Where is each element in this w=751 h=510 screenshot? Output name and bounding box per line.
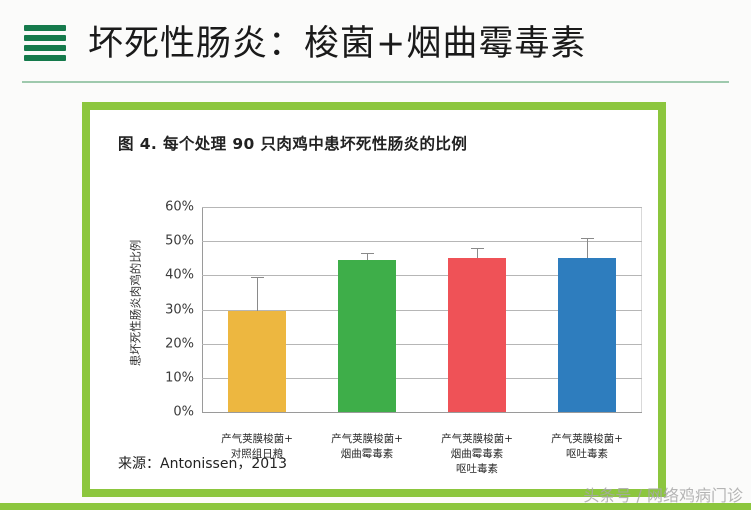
x-axis-label-line: 产气荚膜梭菌+: [202, 432, 312, 447]
y-tick-label: 50%: [165, 234, 194, 249]
error-bar: [257, 277, 258, 311]
x-axis-label-line: 烟曲霉毒素: [422, 447, 532, 462]
x-axis-label-line: 烟曲霉毒素: [312, 447, 422, 462]
x-axis-label-line: 产气荚膜梭菌+: [422, 432, 532, 447]
slide-page: 坏死性肠炎：梭菌+烟曲霉毒素 图 4. 每个处理 90 只肉鸡中患坏死性肠炎的比…: [0, 0, 751, 510]
header-divider: [22, 81, 729, 83]
bar[interactable]: [558, 258, 616, 412]
error-bar: [367, 253, 368, 260]
x-axis-label: 产气荚膜梭菌+烟曲霉毒素呕吐毒素: [422, 432, 532, 477]
error-bar-cap: [361, 253, 374, 254]
plot-area: 60%50%40%30%20%10%0%: [202, 197, 642, 422]
chart-card-inner: 图 4. 每个处理 90 只肉鸡中患坏死性肠炎的比例 患坏死性肠炎肉鸡的比例 6…: [90, 110, 658, 489]
chart-card: 图 4. 每个处理 90 只肉鸡中患坏死性肠炎的比例 患坏死性肠炎肉鸡的比例 6…: [82, 102, 666, 497]
bar-column[interactable]: [228, 207, 286, 412]
chart-title: 图 4. 每个处理 90 只肉鸡中患坏死性肠炎的比例: [118, 132, 467, 154]
bar-series: [202, 207, 642, 412]
watermark: 头条号 / 网络鸡病门诊: [583, 482, 743, 506]
y-axis-title: 患坏死性肠炎肉鸡的比例: [126, 205, 144, 400]
x-axis-label: 产气荚膜梭菌+呕吐毒素: [532, 432, 642, 462]
y-axis-title-text: 患坏死性肠炎肉鸡的比例: [127, 239, 143, 366]
x-axis-label-line: 产气荚膜梭菌+: [312, 432, 422, 447]
hamburger-line: [24, 25, 66, 31]
y-tick-label: 20%: [165, 336, 194, 351]
error-bar-cap: [471, 248, 484, 249]
error-bar: [587, 238, 588, 259]
y-tick-label: 0%: [173, 405, 194, 420]
y-tick-label: 30%: [165, 302, 194, 317]
bar[interactable]: [448, 258, 506, 412]
y-tick-label: 60%: [165, 200, 194, 215]
bar[interactable]: [338, 260, 396, 412]
chart-source: 来源：Antonissen，2013: [118, 453, 287, 473]
error-bar-cap: [251, 277, 264, 278]
hamburger-line: [24, 55, 66, 61]
page-title: 坏死性肠炎：梭菌+烟曲霉毒素: [88, 18, 586, 70]
x-axis-label-line: 产气荚膜梭菌+: [532, 432, 642, 447]
x-axis-label: 产气荚膜梭菌+烟曲霉毒素: [312, 432, 422, 462]
bar-column[interactable]: [338, 207, 396, 412]
error-bar-cap: [581, 238, 594, 239]
error-bar: [477, 248, 478, 258]
bar-column[interactable]: [558, 207, 616, 412]
gridline: [202, 412, 642, 413]
hamburger-line: [24, 45, 66, 51]
y-tick-label: 10%: [165, 370, 194, 385]
hamburger-menu-icon[interactable]: [24, 22, 66, 64]
y-tick-label: 40%: [165, 268, 194, 283]
bar[interactable]: [228, 311, 286, 412]
bar-column[interactable]: [448, 207, 506, 412]
hamburger-line: [24, 35, 66, 41]
slide-header: 坏死性肠炎：梭菌+烟曲霉毒素: [0, 0, 751, 86]
x-axis-label-line: 呕吐毒素: [532, 447, 642, 462]
x-axis-label-line: 呕吐毒素: [422, 462, 532, 477]
